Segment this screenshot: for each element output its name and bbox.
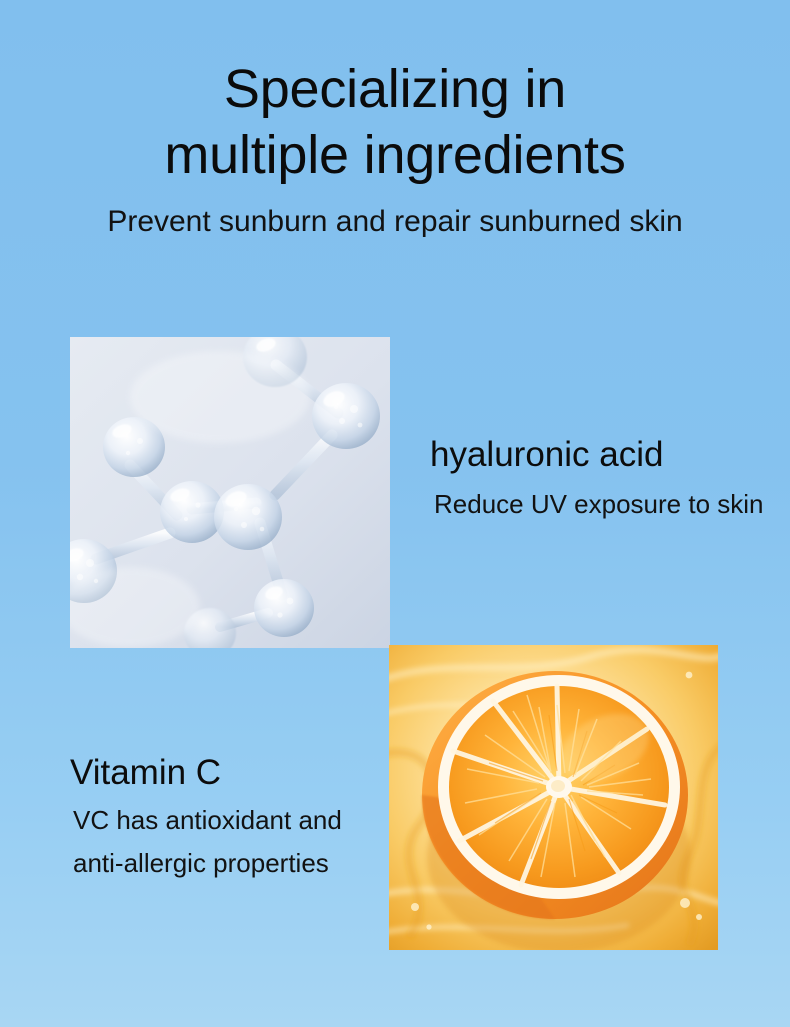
molecule-icon: [70, 337, 390, 648]
hyaluronic-acid-image: [70, 337, 390, 648]
vitamin-c-description-line-1: VC has antioxidant and: [73, 802, 390, 839]
hyaluronic-acid-feature: hyaluronic acid Reduce UV exposure to sk…: [430, 432, 782, 522]
vitamin-c-description-line-2: anti-allergic properties: [73, 845, 390, 882]
page-title-line-2: multiple ingredients: [0, 122, 790, 188]
header: Specializing in multiple ingredients Pre…: [0, 56, 790, 242]
page-subtitle: Prevent sunburn and repair sunburned ski…: [0, 202, 790, 242]
hyaluronic-acid-title: hyaluronic acid: [430, 432, 782, 478]
vitamin-c-feature: Vitamin C VC has antioxidant and anti-al…: [70, 750, 390, 882]
page-title-line-1: Specializing in: [0, 56, 790, 122]
vitamin-c-image: [389, 645, 718, 950]
hyaluronic-acid-description: Reduce UV exposure to skin: [434, 486, 782, 522]
ingredients-promo-banner: Specializing in multiple ingredients Pre…: [0, 0, 790, 1027]
vitamin-c-title: Vitamin C: [70, 750, 390, 796]
orange-slice-icon: [389, 645, 718, 950]
